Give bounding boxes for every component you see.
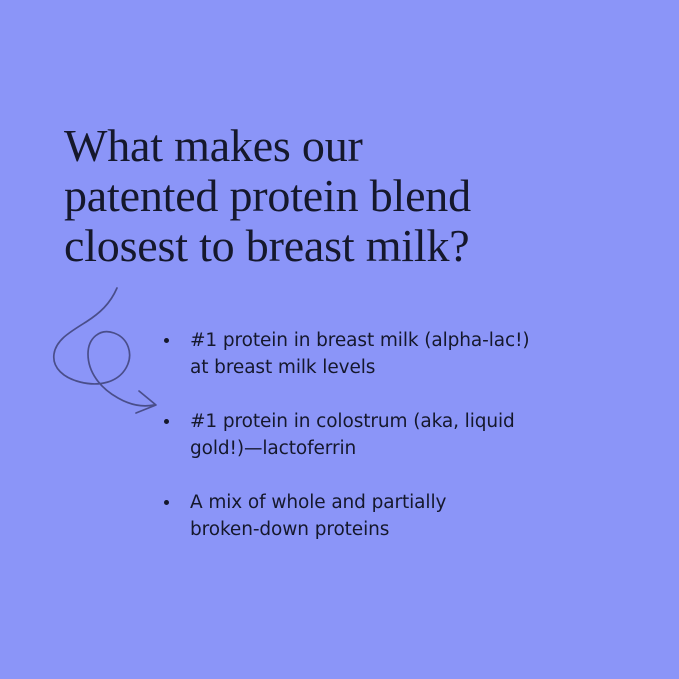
- bullet-dot-icon: [164, 338, 169, 343]
- page-title: What makes our patented protein blend cl…: [64, 121, 594, 271]
- benefits-list: #1 protein in breast milk (alpha-lac!) a…: [160, 327, 580, 543]
- list-item: #1 protein in colostrum (aka, liquid gol…: [160, 408, 580, 462]
- list-item-label: #1 protein in breast milk (alpha-lac!) a…: [190, 327, 580, 381]
- list-item: #1 protein in breast milk (alpha-lac!) a…: [160, 327, 580, 381]
- promo-slide: What makes our patented protein blend cl…: [0, 0, 679, 679]
- bullet-dot-icon: [164, 419, 169, 424]
- bullet-dot-icon: [164, 500, 169, 505]
- list-item: A mix of whole and partially broken-down…: [160, 489, 580, 543]
- arrow-head-path: [136, 391, 156, 413]
- list-item-label: #1 protein in colostrum (aka, liquid gol…: [190, 408, 580, 462]
- list-item-label: A mix of whole and partially broken-down…: [190, 489, 580, 543]
- curly-arrow-icon: [44, 286, 162, 420]
- arrow-tail-path: [54, 288, 154, 406]
